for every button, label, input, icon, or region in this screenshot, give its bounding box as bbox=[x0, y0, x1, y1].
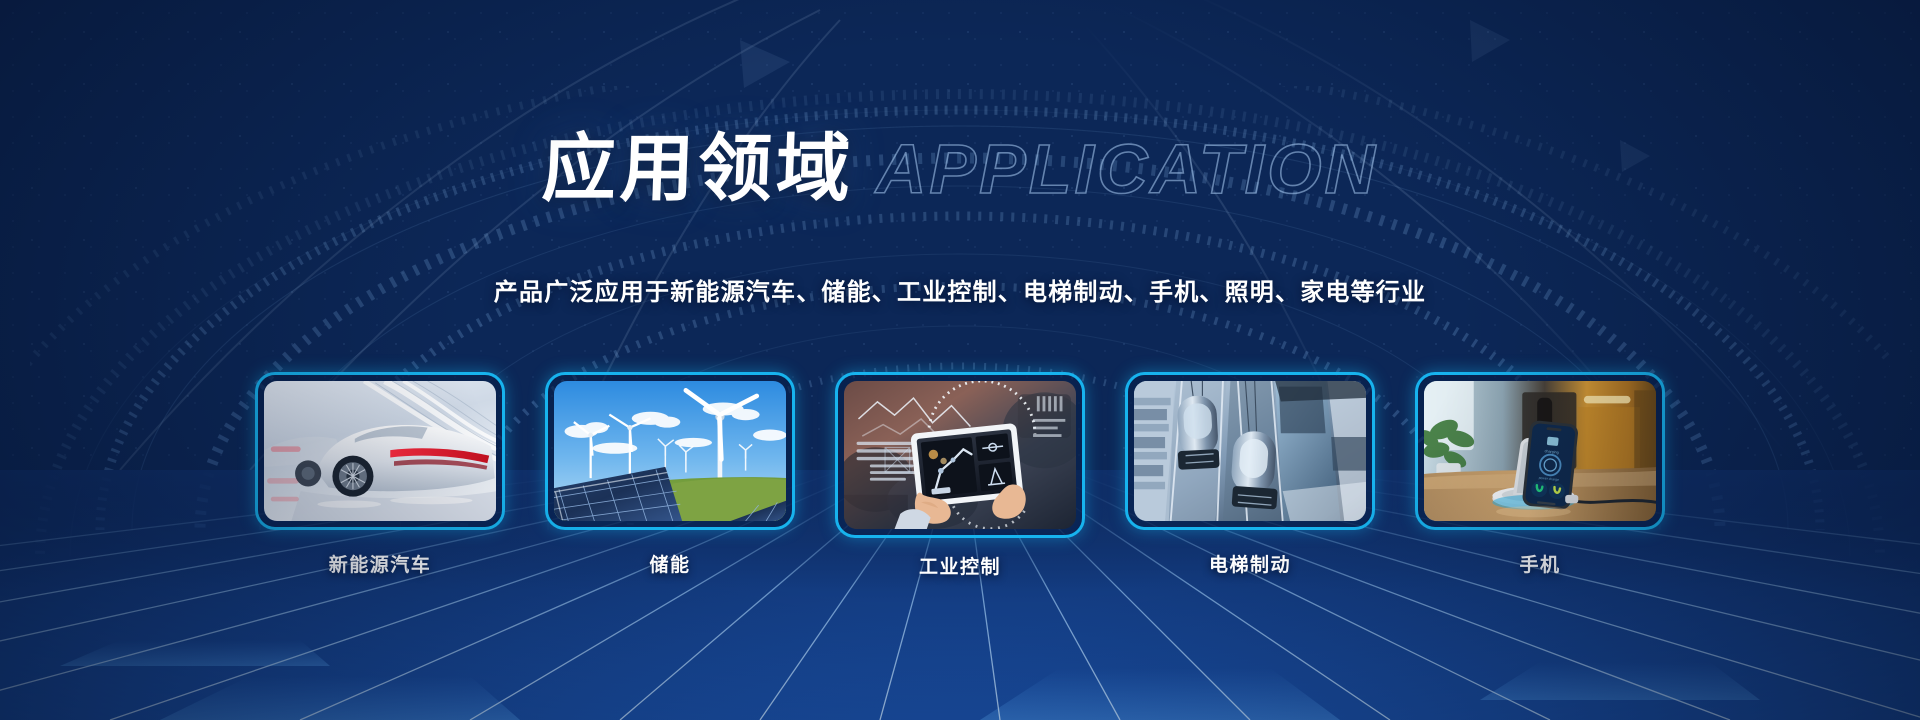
card-label: 新能源汽车 bbox=[255, 550, 505, 577]
industrial-control-photo bbox=[844, 381, 1076, 529]
card-frame bbox=[1125, 372, 1375, 530]
application-card-elevator-braking[interactable]: 电梯制动 bbox=[1125, 372, 1375, 577]
card-frame bbox=[545, 372, 795, 530]
card-frame bbox=[835, 372, 1085, 538]
application-card-industrial-control[interactable]: 工业控制 bbox=[835, 372, 1085, 579]
energy-storage-photo bbox=[554, 381, 786, 521]
application-card-new-energy-vehicle[interactable]: 新能源汽车 bbox=[255, 372, 505, 577]
banner-heading: 应用领域 APPLICATION bbox=[0, 132, 1920, 206]
mobile-phone-photo: charging power charge bbox=[1424, 381, 1656, 521]
card-label: 储能 bbox=[545, 550, 795, 577]
application-banner: 应用领域 APPLICATION 产品广泛应用于新能源汽车、储能、工业控制、电梯… bbox=[0, 0, 1920, 720]
application-card-mobile-phone[interactable]: charging power charge bbox=[1415, 372, 1665, 577]
elevator-braking-photo bbox=[1134, 381, 1366, 521]
application-card-list: 新能源汽车 bbox=[255, 372, 1665, 579]
card-label: 电梯制动 bbox=[1125, 550, 1375, 577]
card-frame: charging power charge bbox=[1415, 372, 1665, 530]
new-energy-vehicle-photo bbox=[264, 381, 496, 521]
card-label: 手机 bbox=[1415, 550, 1665, 577]
page-subtitle: 产品广泛应用于新能源汽车、储能、工业控制、电梯制动、手机、照明、家电等行业 bbox=[0, 272, 1920, 307]
card-frame bbox=[255, 372, 505, 530]
page-title-cn: 应用领域 bbox=[541, 132, 856, 206]
application-card-energy-storage[interactable]: 储能 bbox=[545, 372, 795, 577]
page-title-en: APPLICATION bbox=[876, 134, 1378, 204]
card-label: 工业控制 bbox=[835, 552, 1085, 579]
